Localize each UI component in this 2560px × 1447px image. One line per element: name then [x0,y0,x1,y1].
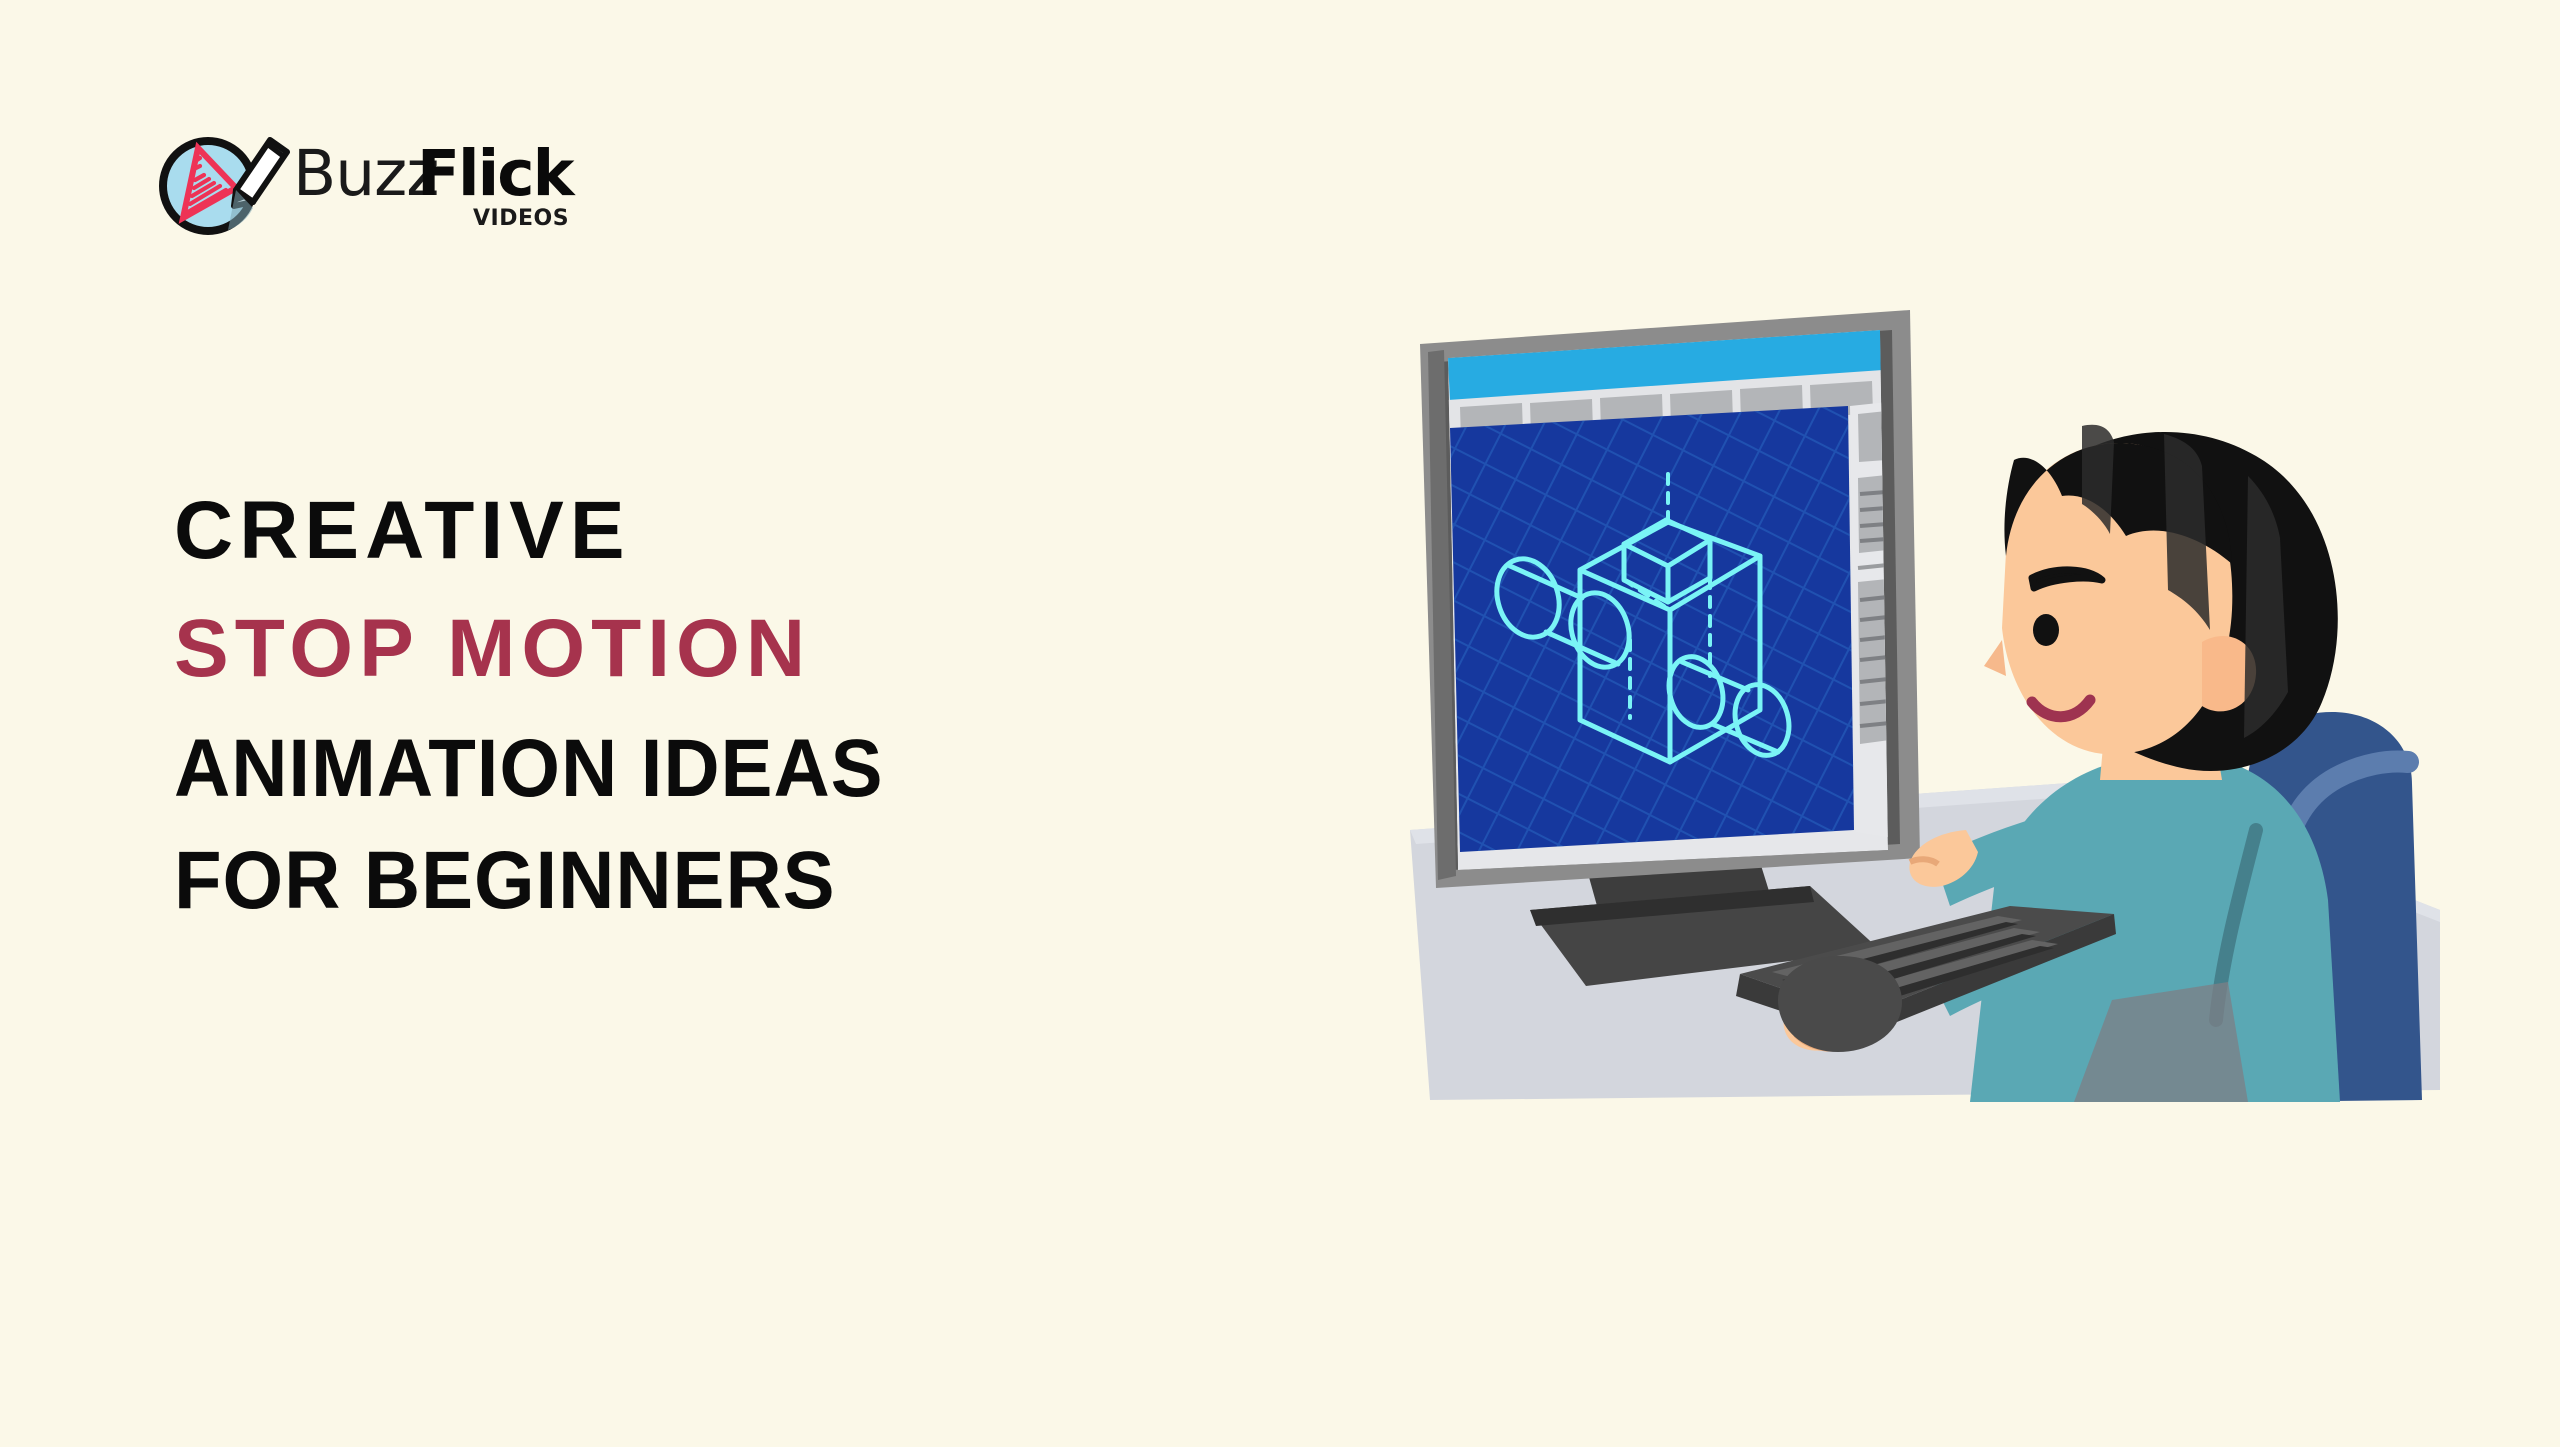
poster-canvas: Buzz Flick VIDEOS CREATIVE STOP MOTION A… [0,0,2560,1447]
headline-line-1: CREATIVE [174,490,1394,572]
headline-line-2-accent: STOP MOTION [174,608,1394,690]
logo-tagline: VIDEOS [473,208,569,230]
brand-logo[interactable]: Buzz Flick VIDEOS [150,112,610,242]
person-eye [2033,614,2059,646]
brand-wordmark: Buzz Flick VIDEOS [293,120,603,240]
buzzflick-lens-pencil-icon [150,120,290,240]
headline-line-4: FOR BEGINNERS [174,840,1333,922]
illustration-man-at-computer [1410,310,2440,1110]
logo-word-flick: Flick [417,142,572,205]
headline-line-3: ANIMATION IDEAS [174,728,1333,810]
mouse [1778,956,1902,1052]
headline-block: CREATIVE STOP MOTION ANIMATION IDEAS FOR… [174,490,1394,922]
